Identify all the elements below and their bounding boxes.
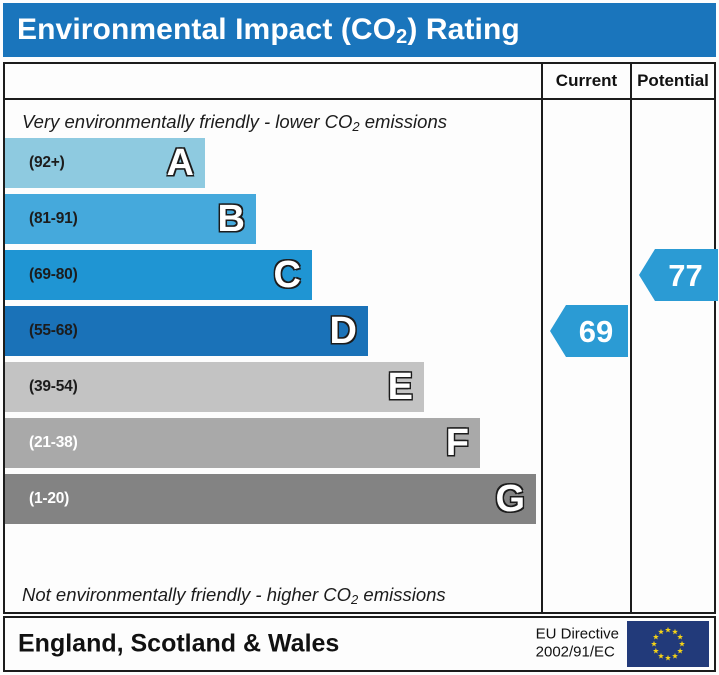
band-letter-d: D bbox=[330, 313, 357, 349]
rating-band-e: (39-54)E bbox=[5, 362, 424, 412]
eu-directive-text: EU Directive 2002/91/EC bbox=[536, 626, 619, 663]
rating-value-potential: 77 bbox=[654, 260, 702, 291]
rating-band-b: (81-91)B bbox=[5, 194, 256, 244]
epc-environmental-impact-certificate: Environmental Impact (CO2) Rating Curren… bbox=[0, 0, 719, 675]
chart-title-bar: Environmental Impact (CO2) Rating bbox=[3, 3, 716, 57]
band-range-b: (81-91) bbox=[29, 210, 78, 228]
caption-bottom: Not environmentally friendly - higher CO… bbox=[22, 584, 446, 606]
caption-top-subscript: 2 bbox=[352, 119, 359, 134]
caption-bottom-subscript: 2 bbox=[351, 592, 358, 607]
eu-flag-icon bbox=[627, 621, 709, 667]
band-range-e: (39-54) bbox=[29, 378, 78, 396]
column-header-potential: Potential bbox=[632, 64, 714, 98]
band-range-a: (92+) bbox=[29, 154, 65, 172]
band-letter-a: A bbox=[167, 145, 194, 181]
band-letter-e: E bbox=[388, 369, 413, 405]
band-range-c: (69-80) bbox=[29, 266, 78, 284]
potential-column-divider bbox=[630, 64, 632, 612]
rating-band-d: (55-68)D bbox=[5, 306, 368, 356]
rating-value-current: 69 bbox=[565, 316, 613, 347]
rating-band-g: (1-20)G bbox=[5, 474, 536, 524]
footer-region-label: England, Scotland & Wales bbox=[18, 630, 339, 659]
band-range-f: (21-38) bbox=[29, 434, 78, 452]
band-range-d: (55-68) bbox=[29, 322, 78, 340]
rating-marker-current: 69 bbox=[550, 305, 628, 357]
title-subscript: 2 bbox=[396, 26, 407, 48]
band-letter-b: B bbox=[218, 201, 245, 237]
eu-directive-line1: EU Directive bbox=[536, 626, 619, 644]
column-header-current: Current bbox=[543, 64, 630, 98]
caption-top: Very environmentally friendly - lower CO… bbox=[22, 111, 447, 133]
rating-band-a: (92+)A bbox=[5, 138, 205, 188]
eu-directive-line2: 2002/91/EC bbox=[536, 644, 619, 662]
header-row-divider bbox=[5, 98, 714, 100]
page-title: Environmental Impact (CO2) Rating bbox=[17, 15, 520, 45]
band-letter-f: F bbox=[446, 425, 469, 461]
band-range-g: (1-20) bbox=[29, 490, 69, 508]
rating-band-c: (69-80)C bbox=[5, 250, 312, 300]
rating-table: Current Potential Very environmentally f… bbox=[3, 62, 716, 614]
rating-band-f: (21-38)F bbox=[5, 418, 480, 468]
band-letter-c: C bbox=[274, 257, 301, 293]
rating-marker-potential: 77 bbox=[639, 249, 718, 301]
band-letter-g: G bbox=[495, 481, 525, 517]
footer-bar: England, Scotland & Wales EU Directive 2… bbox=[3, 616, 716, 672]
current-column-divider bbox=[541, 64, 543, 612]
